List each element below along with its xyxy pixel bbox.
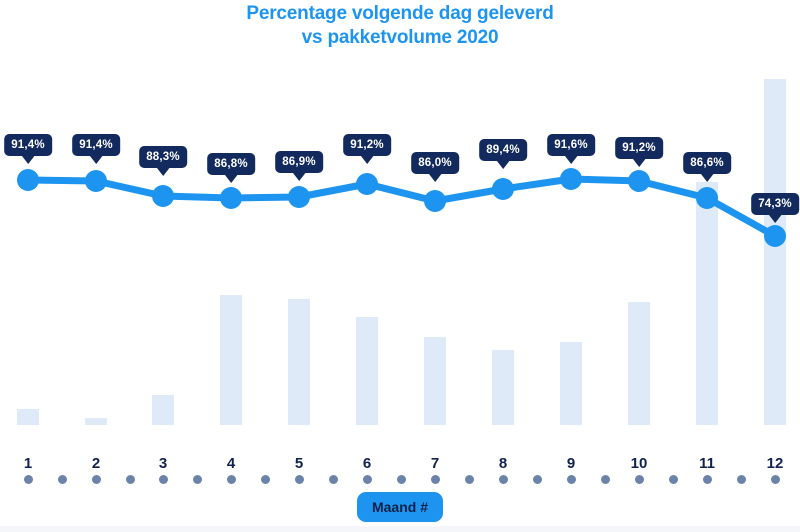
data-label-month-12: 74,3% xyxy=(751,193,799,215)
line-marker-month-6[interactable] xyxy=(356,173,378,195)
x-axis-title-pill[interactable]: Maand # xyxy=(357,492,443,522)
data-label-month-2: 91,4% xyxy=(72,134,120,156)
x-tick-label-7: 7 xyxy=(431,455,439,472)
chart-title-line-2: vs pakketvolume 2020 xyxy=(0,26,800,50)
x-tick-label-4: 4 xyxy=(227,455,235,472)
line-marker-month-12[interactable] xyxy=(764,225,786,247)
x-tick-label-8: 8 xyxy=(499,455,507,472)
x-tick-label-3: 3 xyxy=(159,455,167,472)
x-tick-label-9: 9 xyxy=(567,455,575,472)
line-series-percentage xyxy=(0,60,800,485)
chart-title-line-1: Percentage volgende dag geleverd xyxy=(0,2,800,26)
data-label-month-4: 86,8% xyxy=(207,153,255,175)
chart-container: Percentage volgende dag geleverd vs pakk… xyxy=(0,0,800,532)
x-tick-label-2: 2 xyxy=(92,455,100,472)
line-marker-month-8[interactable] xyxy=(492,178,514,200)
line-marker-month-11[interactable] xyxy=(696,187,718,209)
data-label-month-10: 91,2% xyxy=(615,137,663,159)
x-tick-label-6: 6 xyxy=(363,455,371,472)
line-marker-month-5[interactable] xyxy=(288,186,310,208)
line-path xyxy=(28,179,775,236)
x-tick-label-5: 5 xyxy=(295,455,303,472)
line-marker-month-4[interactable] xyxy=(220,187,242,209)
data-label-month-7: 86,0% xyxy=(411,152,459,174)
x-axis-tick-labels: 123456789101112 xyxy=(0,455,800,485)
line-marker-month-2[interactable] xyxy=(85,170,107,192)
footer-strip xyxy=(0,526,800,532)
x-tick-label-12: 12 xyxy=(767,455,784,472)
x-tick-label-11: 11 xyxy=(699,455,715,472)
data-label-month-6: 91,2% xyxy=(343,134,391,156)
data-label-month-8: 89,4% xyxy=(479,139,527,161)
data-label-month-9: 91,6% xyxy=(547,134,595,156)
data-label-month-11: 86,6% xyxy=(683,152,731,174)
data-label-month-3: 88,3% xyxy=(139,146,187,168)
x-tick-label-1: 1 xyxy=(24,455,32,472)
x-axis-title-wrap: Maand # xyxy=(0,492,800,522)
data-label-month-1: 91,4% xyxy=(4,134,52,156)
line-marker-month-3[interactable] xyxy=(152,185,174,207)
chart-title: Percentage volgende dag geleverd vs pakk… xyxy=(0,2,800,50)
plot-area: 91,4%91,4%88,3%86,8%86,9%91,2%86,0%89,4%… xyxy=(0,60,800,425)
line-marker-month-10[interactable] xyxy=(628,170,650,192)
line-marker-month-7[interactable] xyxy=(424,190,446,212)
line-marker-month-9[interactable] xyxy=(560,168,582,190)
data-label-month-5: 86,9% xyxy=(275,151,323,173)
line-marker-month-1[interactable] xyxy=(17,169,39,191)
x-tick-label-10: 10 xyxy=(631,455,648,472)
